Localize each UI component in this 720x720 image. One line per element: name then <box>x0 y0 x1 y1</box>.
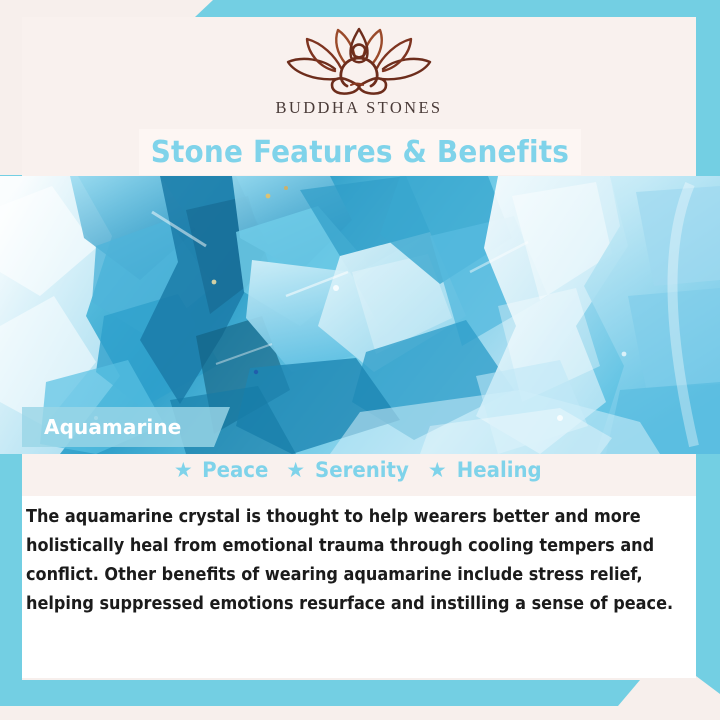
star-icon: ★ <box>174 460 193 481</box>
star-icon: ★ <box>286 460 305 481</box>
benefits-row: ★ Peace ★ Serenity ★ Healing <box>22 458 696 482</box>
benefit-label: Serenity <box>315 458 409 482</box>
benefit-label: Healing <box>456 458 541 482</box>
frame-top-blue-bar <box>195 0 720 17</box>
benefit-item-peace: ★ Peace <box>174 458 270 482</box>
benefit-item-serenity: ★ Serenity <box>286 458 412 482</box>
description-panel: The aquamarine crystal is thought to hel… <box>22 496 696 678</box>
benefit-item-healing: ★ Healing <box>428 458 544 482</box>
frame-bottom-blue-bar <box>0 680 640 706</box>
page-title: Stone Features & Benefits <box>151 135 569 170</box>
lotus-meditation-icon <box>275 23 443 97</box>
brand-header: BUDDHA STONES <box>22 17 696 125</box>
benefit-label: Peace <box>202 458 268 482</box>
stone-name-label: Aquamarine <box>22 407 230 447</box>
stone-features-poster: BUDDHA STONES Stone Features & Benefits <box>0 0 720 720</box>
star-icon: ★ <box>428 460 447 481</box>
brand-name: BUDDHA STONES <box>275 98 442 118</box>
title-banner: Stone Features & Benefits <box>139 129 581 175</box>
stone-name-text: Aquamarine <box>22 415 181 439</box>
description-text: The aquamarine crystal is thought to hel… <box>26 503 679 619</box>
